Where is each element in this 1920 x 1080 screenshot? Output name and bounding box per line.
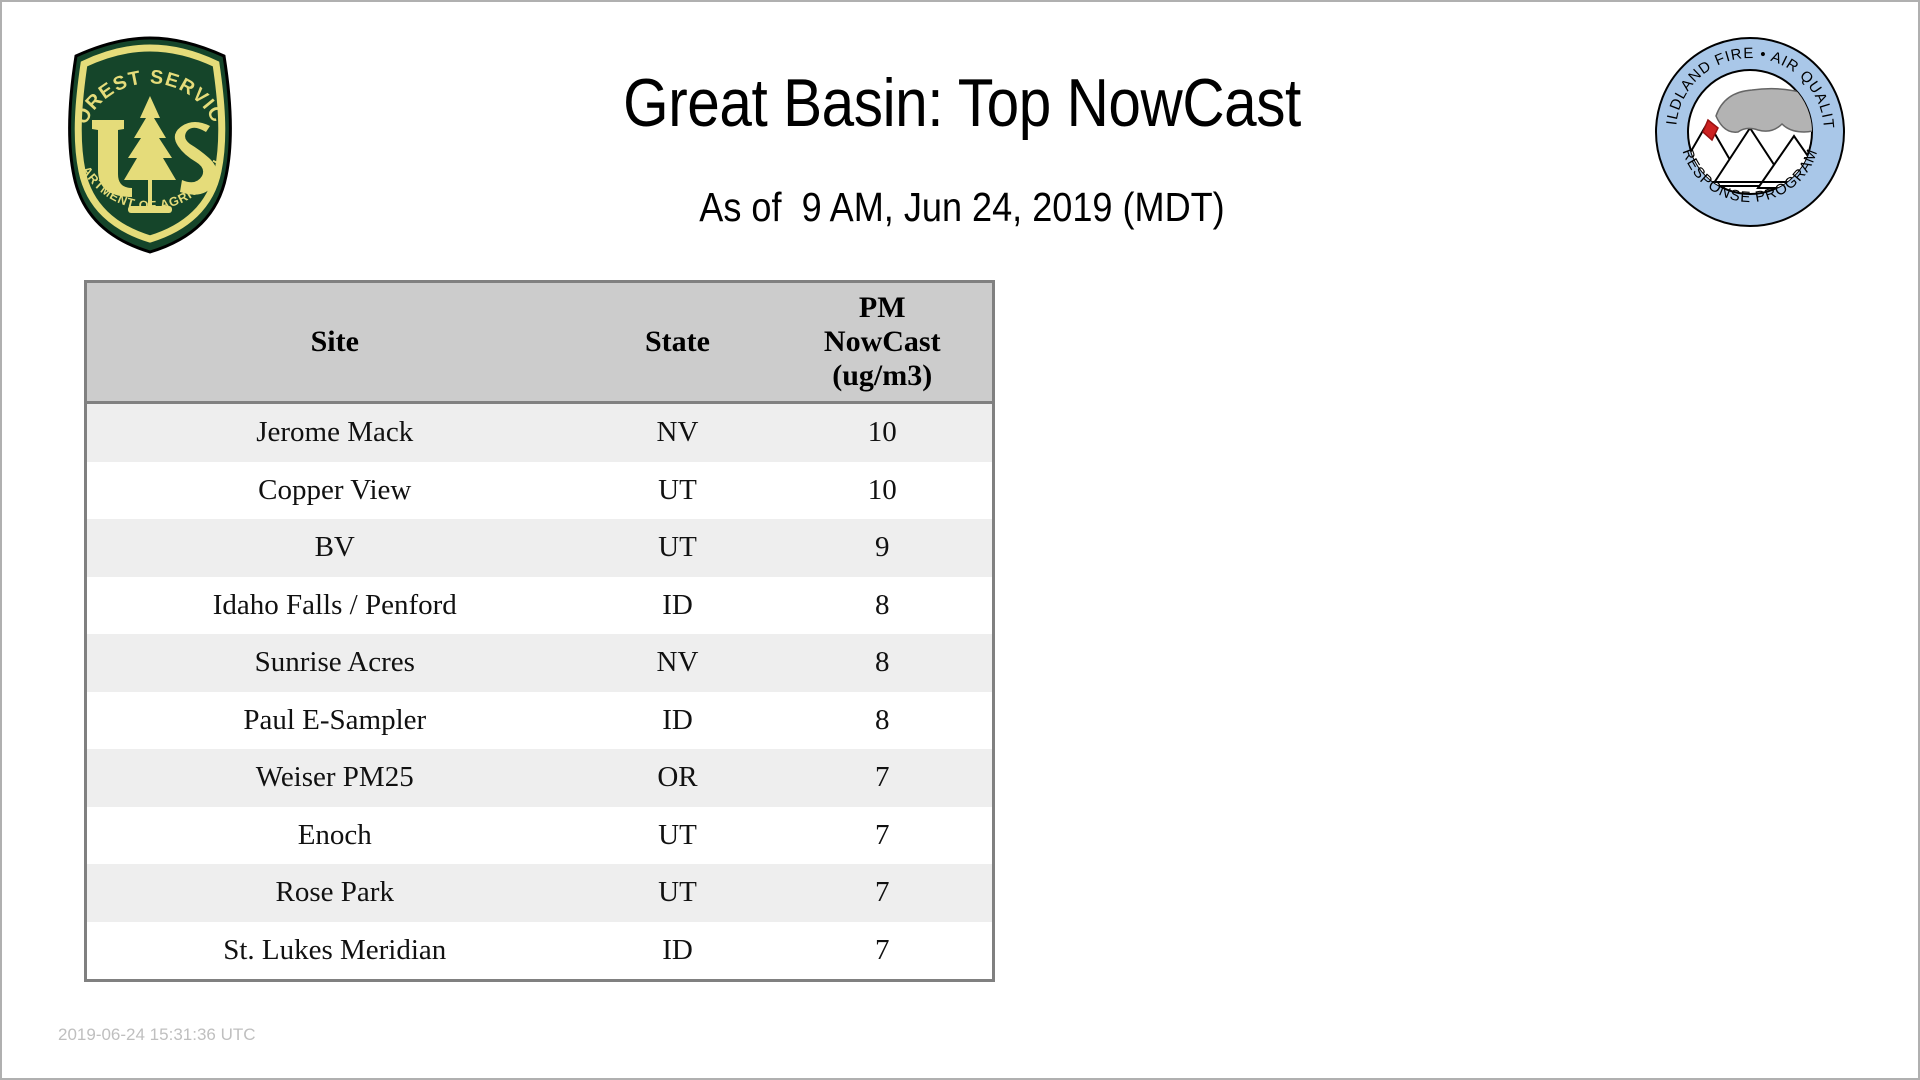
cell-site: Sunrise Acres: [86, 634, 583, 692]
column-header-pm-line2: NowCast: [773, 325, 993, 359]
cell-site: BV: [86, 519, 583, 577]
cell-state: OR: [583, 749, 773, 807]
table-row: BVUT9: [86, 519, 994, 577]
table-header: Site State PM NowCast (ug/m3): [86, 282, 994, 403]
table-header-row: Site State PM NowCast (ug/m3): [86, 282, 994, 403]
cell-state: NV: [583, 403, 773, 462]
usfs-shield-logo: FOREST SERVICE DEPARTMENT OF AGRICULTURE: [54, 34, 246, 256]
column-header-pm-nowcast: PM NowCast (ug/m3): [773, 282, 994, 403]
table-row: Weiser PM25OR7: [86, 749, 994, 807]
table-body: Jerome MackNV10Copper ViewUT10BVUT9Idaho…: [86, 403, 994, 981]
column-header-pm-line1: PM: [773, 291, 993, 325]
cell-pm-nowcast: 8: [773, 634, 994, 692]
cell-site: Idaho Falls / Penford: [86, 577, 583, 635]
table-row: Idaho Falls / PenfordID8: [86, 577, 994, 635]
cell-state: UT: [583, 519, 773, 577]
cell-pm-nowcast: 10: [773, 462, 994, 520]
wfaqrp-circular-logo: WILDLAND FIRE • AIR QUALITY RESPONSE PRO…: [1654, 36, 1846, 228]
cell-site: Paul E-Sampler: [86, 692, 583, 750]
cell-state: ID: [583, 692, 773, 750]
table-row: Copper ViewUT10: [86, 462, 994, 520]
cell-pm-nowcast: 7: [773, 922, 994, 981]
table-row: Rose ParkUT7: [86, 864, 994, 922]
cell-pm-nowcast: 10: [773, 403, 994, 462]
cell-state: ID: [583, 922, 773, 981]
column-header-state: State: [583, 282, 773, 403]
footer-timestamp: 2019-06-24 15:31:36 UTC: [58, 1025, 256, 1045]
cell-state: NV: [583, 634, 773, 692]
table-row: Sunrise AcresNV8: [86, 634, 994, 692]
table-row: Jerome MackNV10: [86, 403, 994, 462]
cell-site: St. Lukes Meridian: [86, 922, 583, 981]
cell-site: Jerome Mack: [86, 403, 583, 462]
cell-site: Copper View: [86, 462, 583, 520]
cell-site: Weiser PM25: [86, 749, 583, 807]
cell-pm-nowcast: 7: [773, 749, 994, 807]
top-nowcast-table: Site State PM NowCast (ug/m3) Jerome Mac…: [84, 280, 995, 982]
cell-pm-nowcast: 7: [773, 807, 994, 865]
table-row: EnochUT7: [86, 807, 994, 865]
cell-state: UT: [583, 462, 773, 520]
cell-pm-nowcast: 9: [773, 519, 994, 577]
cell-site: Rose Park: [86, 864, 583, 922]
cell-state: ID: [583, 577, 773, 635]
table-row: Paul E-SamplerID8: [86, 692, 994, 750]
column-header-site: Site: [86, 282, 583, 403]
slide-page: FOREST SERVICE DEPARTMENT OF AGRICULTURE: [0, 0, 1920, 1080]
table-row: St. Lukes MeridianID7: [86, 922, 994, 981]
page-title: Great Basin: Top NowCast: [394, 64, 1529, 142]
cell-pm-nowcast: 7: [773, 864, 994, 922]
cell-site: Enoch: [86, 807, 583, 865]
cell-state: UT: [583, 864, 773, 922]
cell-state: UT: [583, 807, 773, 865]
cell-pm-nowcast: 8: [773, 577, 994, 635]
column-header-pm-line3: (ug/m3): [773, 359, 993, 393]
page-subtitle: As of 9 AM, Jun 24, 2019 (MDT): [381, 184, 1543, 231]
cell-pm-nowcast: 8: [773, 692, 994, 750]
